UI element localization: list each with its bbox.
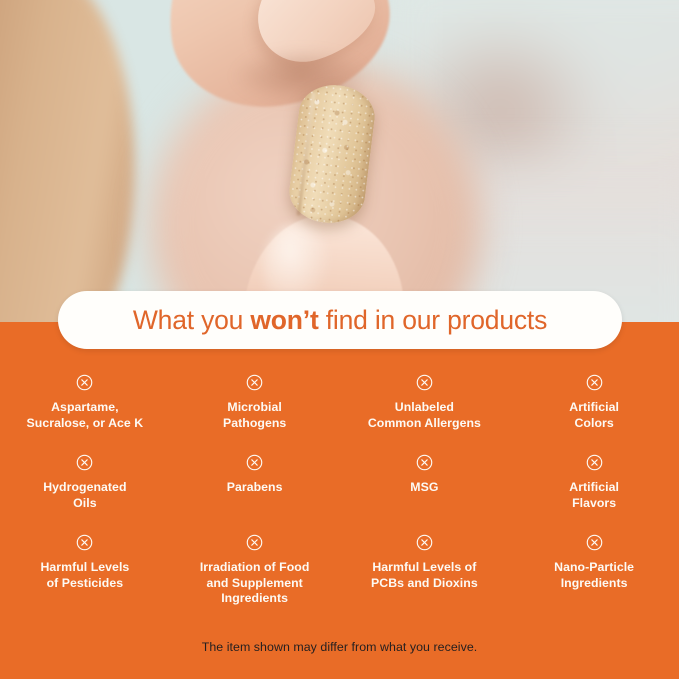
claim-item: Artificial Flavors: [509, 446, 679, 526]
circle-x-icon: [246, 454, 263, 471]
circle-x-icon: [246, 374, 263, 391]
claim-item-label: Harmful Levels of PCBs and Dioxins: [371, 560, 478, 591]
claim-item: Microbial Pathogens: [170, 366, 340, 446]
claim-item: Harmful Levels of PCBs and Dioxins: [340, 526, 510, 612]
claim-item-label: Microbial Pathogens: [223, 400, 286, 431]
claim-item-label: MSG: [410, 480, 438, 496]
circle-x-icon: [76, 534, 93, 551]
circle-x-icon: [416, 374, 433, 391]
claim-item-label: Aspartame, Sucralose, or Ace K: [27, 400, 144, 431]
circle-x-icon: [246, 534, 263, 551]
claim-item: Unlabeled Common Allergens: [340, 366, 510, 446]
claim-item-label: Harmful Levels of Pesticides: [40, 560, 129, 591]
claim-item-label: Artificial Colors: [569, 400, 619, 431]
claim-item-label: Irradiation of Food and Supplement Ingre…: [200, 560, 310, 607]
claim-item-label: Nano-Particle Ingredients: [554, 560, 634, 591]
headline-part-after: find in our products: [319, 305, 548, 335]
headline-emphasis: won’t: [250, 305, 318, 335]
claim-item: Nano-Particle Ingredients: [509, 526, 679, 612]
excluded-ingredients-grid: Aspartame, Sucralose, or Ace KMicrobial …: [0, 366, 679, 612]
disclaimer-text: The item shown may differ from what you …: [0, 640, 679, 654]
headline-banner: What you won’t find in our products: [58, 291, 622, 349]
claim-item: MSG: [340, 446, 510, 526]
claim-item: Hydrogenated Oils: [0, 446, 170, 526]
hero-photo: [0, 0, 679, 322]
claim-item: Aspartame, Sucralose, or Ace K: [0, 366, 170, 446]
headline-text: What you won’t find in our products: [133, 305, 547, 336]
circle-x-icon: [586, 534, 603, 551]
circle-x-icon: [586, 374, 603, 391]
product-claims-panel: What you won’t find in our products Aspa…: [0, 0, 679, 679]
circle-x-icon: [586, 454, 603, 471]
claim-item: Artificial Colors: [509, 366, 679, 446]
claim-item-label: Hydrogenated Oils: [43, 480, 126, 511]
claim-item: Parabens: [170, 446, 340, 526]
claim-item-label: Artificial Flavors: [569, 480, 619, 511]
circle-x-icon: [416, 454, 433, 471]
claim-item: Harmful Levels of Pesticides: [0, 526, 170, 612]
circle-x-icon: [76, 454, 93, 471]
claim-item-label: Parabens: [227, 480, 283, 496]
circle-x-icon: [416, 534, 433, 551]
headline-part-before: What you: [133, 305, 251, 335]
claim-item: Irradiation of Food and Supplement Ingre…: [170, 526, 340, 612]
claim-item-label: Unlabeled Common Allergens: [368, 400, 481, 431]
circle-x-icon: [76, 374, 93, 391]
